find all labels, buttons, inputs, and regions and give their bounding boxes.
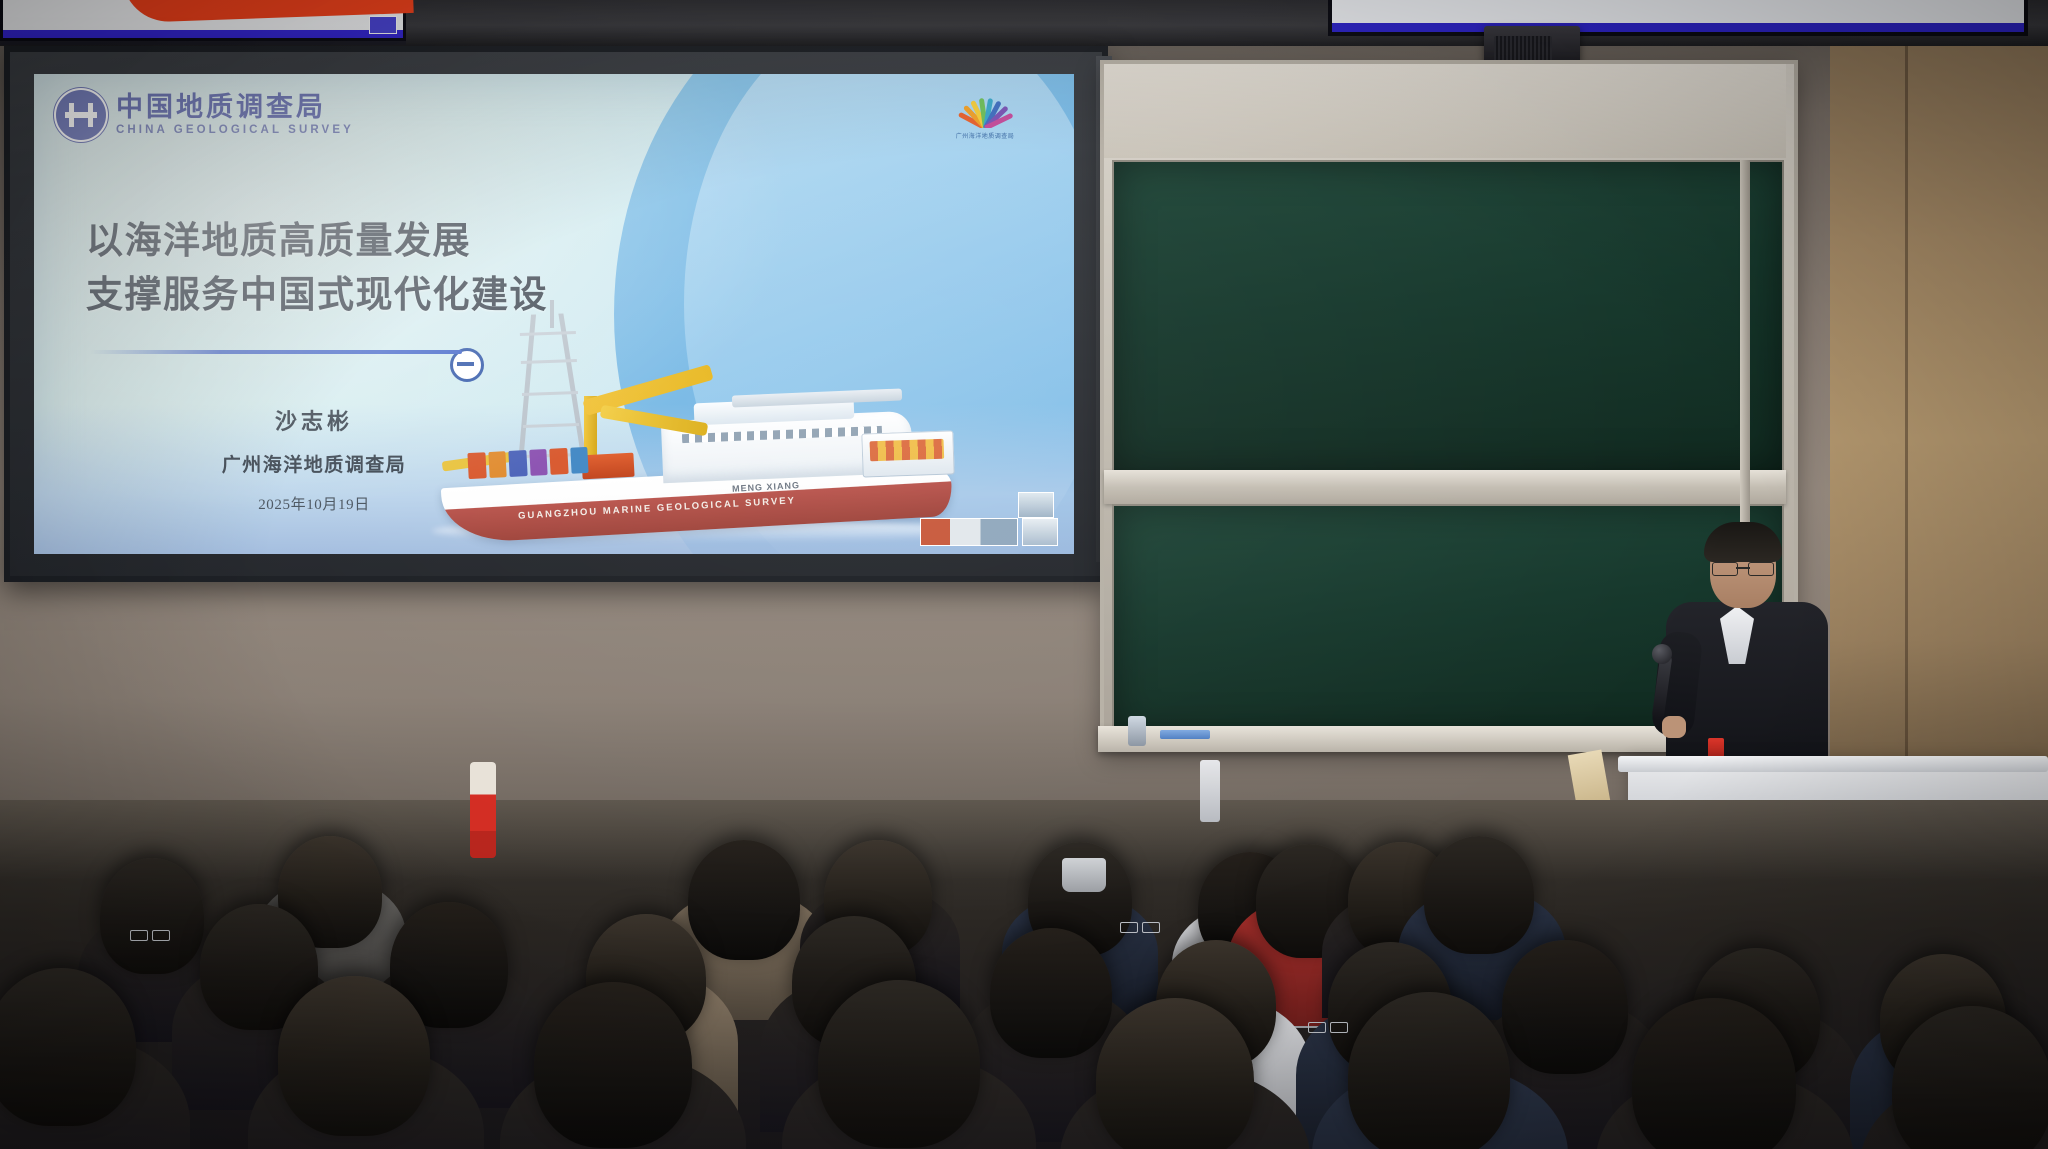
title-divider-rule xyxy=(90,350,462,354)
slide-title: 以海洋地质高质量发展 支撑服务中国式现代化建设 xyxy=(86,214,548,321)
china-geological-survey-emblem-icon xyxy=(56,90,106,140)
blackboard-middle-rail xyxy=(1104,470,1786,504)
cgs-logo-text: 中国地质调查局 CHINA GEOLOGICAL SURVEY xyxy=(116,94,354,137)
cgs-logo: 中国地质调查局 CHINA GEOLOGICAL SURVEY xyxy=(56,90,354,140)
slide-thumbnail-small xyxy=(1022,518,1058,546)
presenter-hand xyxy=(1662,716,1686,738)
gmgs-logo-caption: 广州海洋地质调查局 xyxy=(954,131,1016,140)
gmgs-fan-icon xyxy=(954,88,1016,128)
presenter-hair xyxy=(1704,522,1782,562)
slide-title-line-1: 以海洋地质高质量发展 xyxy=(86,214,548,268)
vessel-crane-boom-secondary xyxy=(600,405,709,437)
audience-water-bottle xyxy=(1200,760,1220,822)
projection-screen-frame: 中国地质调查局 CHINA GEOLOGICAL SURVEY 广州海洋地质调查… xyxy=(4,46,1108,582)
audience-phone xyxy=(1128,716,1146,746)
slide-thumbnail-top xyxy=(1018,492,1054,518)
slide-title-line-2: 支撑服务中国式现代化建设 xyxy=(86,268,548,322)
audience-head xyxy=(990,928,1112,1058)
presenter-glasses-icon xyxy=(1712,562,1774,574)
research-vessel-illustration: GUANGZHOU MARINE GEOLOGICAL SURVEY MENG … xyxy=(432,304,992,554)
gmgs-logo: 广州海洋地质调查局 xyxy=(954,88,1016,140)
slide-byline: 沙志彬 广州海洋地质调查局 2025年10月19日 xyxy=(164,404,464,514)
lecture-hall-scene: 中国地质调查局 CHINA GEOLOGICAL SURVEY 广州海洋地质调查… xyxy=(0,0,2048,1149)
projected-slide: 中国地质调查局 CHINA GEOLOGICAL SURVEY 广州海洋地质调查… xyxy=(34,74,1074,554)
audience-head xyxy=(818,980,980,1148)
top-right-display-screen xyxy=(1328,0,2028,36)
vessel-deck-crate xyxy=(581,453,634,480)
audience-glasses-icon xyxy=(1120,922,1160,931)
top-left-display-screen xyxy=(0,0,406,41)
chalk-eraser xyxy=(1160,730,1210,739)
wall-seam xyxy=(1905,0,1908,790)
display-corner-tag xyxy=(369,16,397,34)
vessel-deck-containers xyxy=(467,447,588,479)
audience-head xyxy=(100,858,204,974)
audience-head xyxy=(1502,940,1628,1074)
presenter-affiliation: 广州海洋地质调查局 xyxy=(164,450,464,477)
audience-head xyxy=(534,982,692,1148)
wood-wall-panel xyxy=(1830,0,2048,800)
blackboard-top-rail xyxy=(1104,64,1786,158)
display-blue-bar xyxy=(3,30,403,38)
audience-paper-cup xyxy=(1062,858,1106,892)
vessel-stern-equipment xyxy=(861,430,954,477)
audience-head xyxy=(278,976,430,1136)
cgs-name-en: CHINA GEOLOGICAL SURVEY xyxy=(116,125,354,137)
audience-head xyxy=(1424,836,1534,954)
audience-head xyxy=(688,840,800,960)
blackboard-upper-panel xyxy=(1112,160,1784,474)
slide-thumbnail-wide xyxy=(920,518,1018,546)
lectern-top-surface xyxy=(1618,756,2048,772)
audience-area xyxy=(0,800,2048,1149)
presenter-name: 沙志彬 xyxy=(164,404,464,436)
audience-glasses-icon xyxy=(130,930,170,939)
microphone-head-icon xyxy=(1652,644,1672,664)
display-blue-bar-right xyxy=(1332,23,2024,32)
presenter-person xyxy=(1632,520,1862,770)
cgs-name-cn: 中国地质调查局 xyxy=(116,94,354,121)
audience-head xyxy=(1348,992,1510,1149)
presentation-date: 2025年10月19日 xyxy=(164,493,464,514)
audience-drink-bottle xyxy=(470,762,496,858)
audience-head xyxy=(1096,998,1254,1149)
audience-glasses-icon xyxy=(1308,1022,1348,1031)
